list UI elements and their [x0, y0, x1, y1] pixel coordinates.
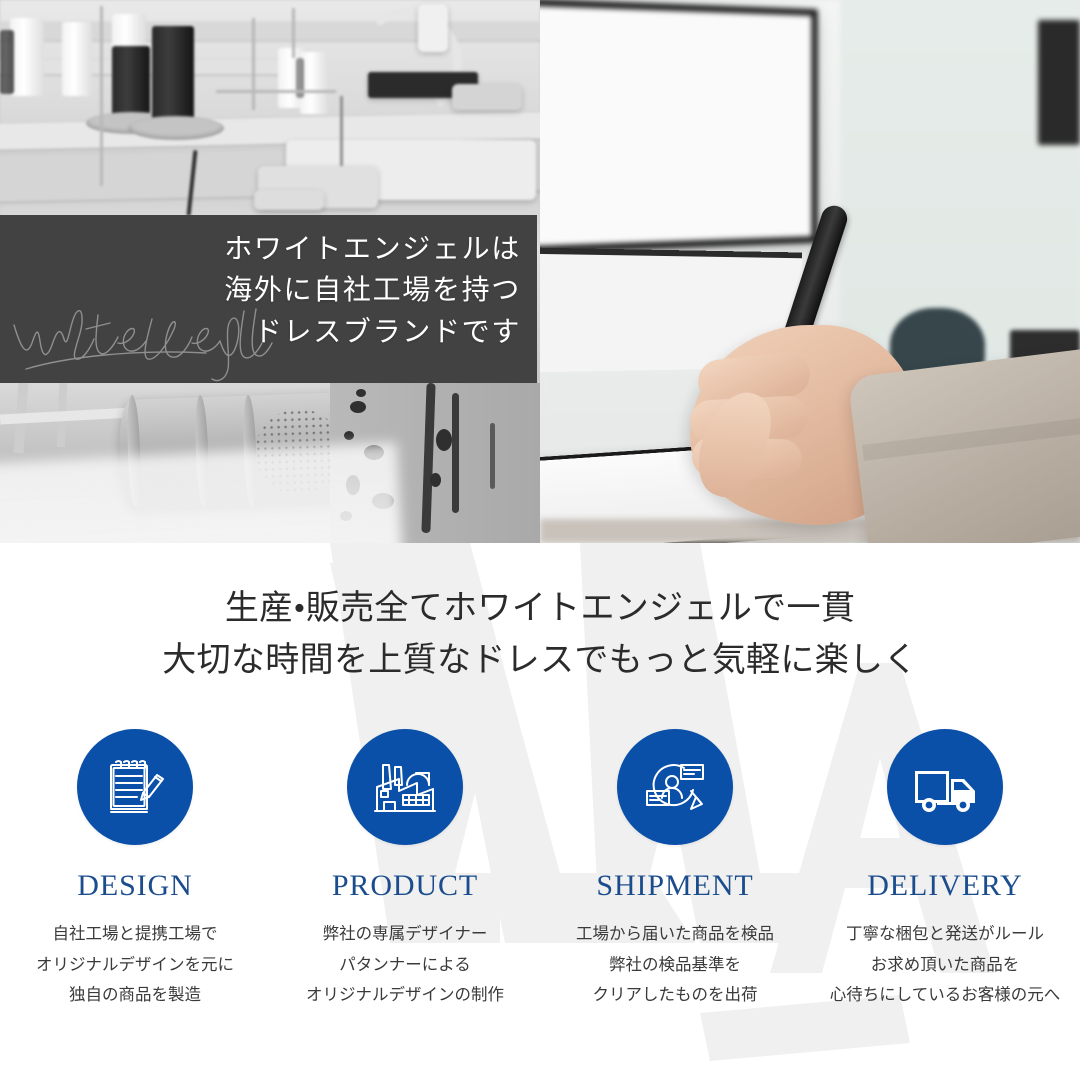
product-icon-circle	[347, 729, 463, 845]
feature-desc-shipment: 工場から届いた商品を検品 弊社の検品基準を クリアしたものを出荷	[576, 919, 774, 1011]
feature-column-shipment: SHIPMENT 工場から届いた商品を検品 弊社の検品基準を クリアしたものを出…	[540, 729, 810, 1011]
design-icon-circle	[77, 729, 193, 845]
feature-column-product: PRODUCT 弊社の専属デザイナー パタンナーによる オリジナルデザインの制作	[270, 729, 540, 1011]
feature-desc-design: 自社工場と提携工場で オリジナルデザインを元に 独自の商品を製造	[36, 919, 234, 1011]
hero-section: ホワイトエンジェルは 海外に自社工場を持つ ドレスブランドです	[0, 0, 1080, 543]
features-section: 生産•販売全てホワイトエンジェルで一貫 大切な時間を上質なドレスでもっと気軽に楽…	[0, 543, 1080, 1080]
feature-column-design: DESIGN 自社工場と提携工場で オリジナルデザインを元に 独自の商品を製造	[0, 729, 270, 1011]
feature-title-shipment: SHIPMENT	[596, 869, 753, 903]
features-headline: 生産•販売全てホワイトエンジェルで一貫 大切な時間を上質なドレスでもっと気軽に楽…	[0, 583, 1080, 686]
industrial-machine-photo	[0, 383, 540, 543]
notepad-pencil-icon	[99, 751, 171, 823]
feature-desc-product: 弊社の専属デザイナー パタンナーによる オリジナルデザインの制作	[306, 919, 504, 1011]
delivery-icon-circle	[887, 729, 1003, 845]
shipment-icon-circle	[617, 729, 733, 845]
features-columns: DESIGN 自社工場と提携工場で オリジナルデザインを元に 独自の商品を製造	[0, 729, 1080, 1011]
delivery-truck-icon	[909, 751, 981, 823]
feature-column-delivery: DELIVERY 丁寧な梱包と発送がルール お求め頂いた商品を 心待ちにしている…	[810, 729, 1080, 1011]
hero-banner: ホワイトエンジェルは 海外に自社工場を持つ ドレスブランドです	[0, 215, 537, 383]
banner-headline: ホワイトエンジェルは 海外に自社工場を持つ ドレスブランドです	[224, 229, 521, 353]
designer-tablet-photo	[540, 0, 1080, 543]
feature-title-delivery: DELIVERY	[867, 869, 1023, 903]
feature-desc-delivery: 丁寧な梱包と発送がルール お求め頂いた商品を 心待ちにしているお客様の元へ	[830, 919, 1061, 1011]
feature-title-product: PRODUCT	[332, 869, 478, 903]
feature-title-design: DESIGN	[77, 869, 192, 903]
factory-icon	[369, 751, 441, 823]
hero-left-photos: ホワイトエンジェルは 海外に自社工場を持つ ドレスブランドです	[0, 0, 540, 543]
inspection-magnifier-icon	[639, 751, 711, 823]
